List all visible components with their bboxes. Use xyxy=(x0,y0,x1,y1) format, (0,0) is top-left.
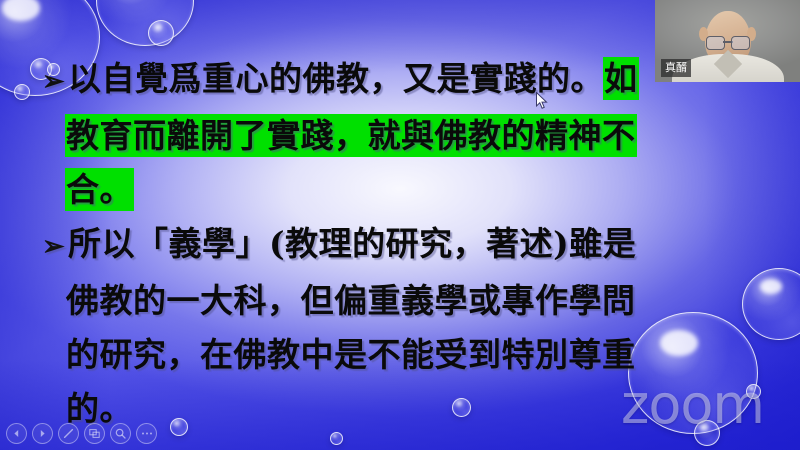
slide-text-body: ➢以自覺爲重心的佛教，又是實踐的。如教育而離開了實踐，就與佛教的精神不合。➢所以… xyxy=(42,52,758,436)
zoom-shared-screen: zoom ➢以自覺爲重心的佛教，又是實踐的。如教育而離開了實踐，就與佛教的精神不… xyxy=(0,0,800,450)
bubble-decoration-icon xyxy=(148,20,174,46)
highlighted-text: 合。 xyxy=(66,169,133,210)
slide-line: ➢所以「義學」(教理的研究，著述)雖是 xyxy=(42,217,758,274)
pen-tool-button[interactable] xyxy=(58,423,79,444)
slide-line: 佛教的一大科，但偏重義學或專作學問 xyxy=(42,274,758,328)
highlighted-text: 教育而離開了實踐，就與佛教的精神不 xyxy=(66,115,636,156)
next-slide-button[interactable] xyxy=(32,423,53,444)
powerpoint-presenter-toolbar[interactable] xyxy=(6,423,157,444)
slide-line: 合。 xyxy=(42,163,758,217)
participant-video-tile[interactable]: 真醑 xyxy=(655,0,800,82)
more-options-button[interactable] xyxy=(136,423,157,444)
mouse-cursor xyxy=(536,92,548,110)
slide-text-run: 以自覺爲重心的佛教，又是實踐的。 xyxy=(68,59,604,98)
highlighted-text: 如 xyxy=(604,58,638,99)
slide-line: 的研究，在佛教中是不能受到特別尊重 xyxy=(42,328,758,382)
glasses-icon xyxy=(706,36,750,48)
bullet-arrow-icon: ➢ xyxy=(42,55,68,109)
bubble-decoration-icon xyxy=(14,84,30,100)
previous-slide-button[interactable] xyxy=(6,423,27,444)
slide-line: 教育而離開了實踐，就與佛教的精神不 xyxy=(42,109,758,163)
slide-text-run: 所以「義學」(教理的研究，著述)雖是 xyxy=(68,224,636,263)
slide-text-run: 的研究，在佛教中是不能受到特別尊重 xyxy=(66,335,636,374)
slide-line: ➢以自覺爲重心的佛教，又是實踐的。如 xyxy=(42,52,758,109)
zoom-in-button[interactable] xyxy=(110,423,131,444)
slide-text-run: 佛教的一大科，但偏重義學或專作學問 xyxy=(66,281,636,320)
bullet-arrow-icon: ➢ xyxy=(42,220,68,274)
participant-name-badge: 真醑 xyxy=(661,59,691,77)
all-slides-button[interactable] xyxy=(84,423,105,444)
